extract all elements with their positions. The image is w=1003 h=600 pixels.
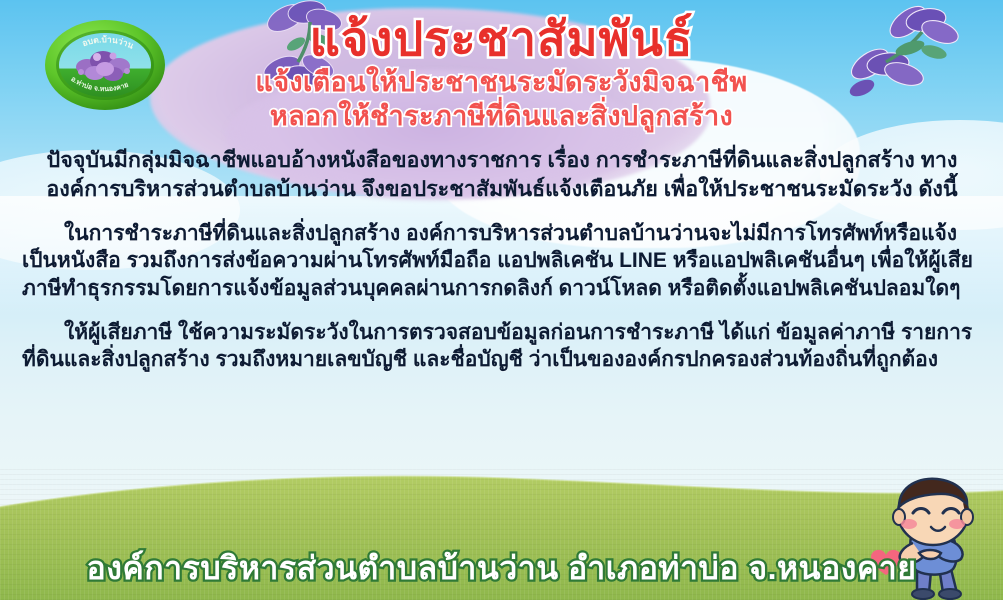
- body-paragraph-1: ปัจจุบันมีกลุ่มมิจฉาชีพแอบอ้างหนังสือของ…: [22, 146, 982, 203]
- announcement-body: ปัจจุบันมีกลุ่มมิจฉาชีพแอบอ้างหนังสือของ…: [22, 146, 982, 387]
- footer-banner: องค์การบริหารส่วนตำบลบ้านว่าน อำเภอท่าบ่…: [0, 543, 1003, 594]
- purple-flower-right-icon: [848, 2, 988, 120]
- municipality-logo: อบต.บ้านว่าน อ.ท่าบ่อ จ.หนองคาย: [43, 17, 167, 113]
- purple-flower-left-icon: [252, 0, 372, 106]
- announcement-poster: อบต.บ้านว่าน อ.ท่าบ่อ จ.หนองคาย: [0, 0, 1003, 600]
- body-paragraph-2: ในการชำระภาษีที่ดินและสิ่งปลูกสร้าง องค์…: [22, 220, 982, 302]
- organization-name: องค์การบริหารส่วนตำบลบ้านว่าน อำเภอท่าบ่…: [87, 543, 917, 594]
- body-paragraph-3: ให้ผู้เสียภาษี ใช้ความระมัดระวังในการตรว…: [22, 319, 982, 374]
